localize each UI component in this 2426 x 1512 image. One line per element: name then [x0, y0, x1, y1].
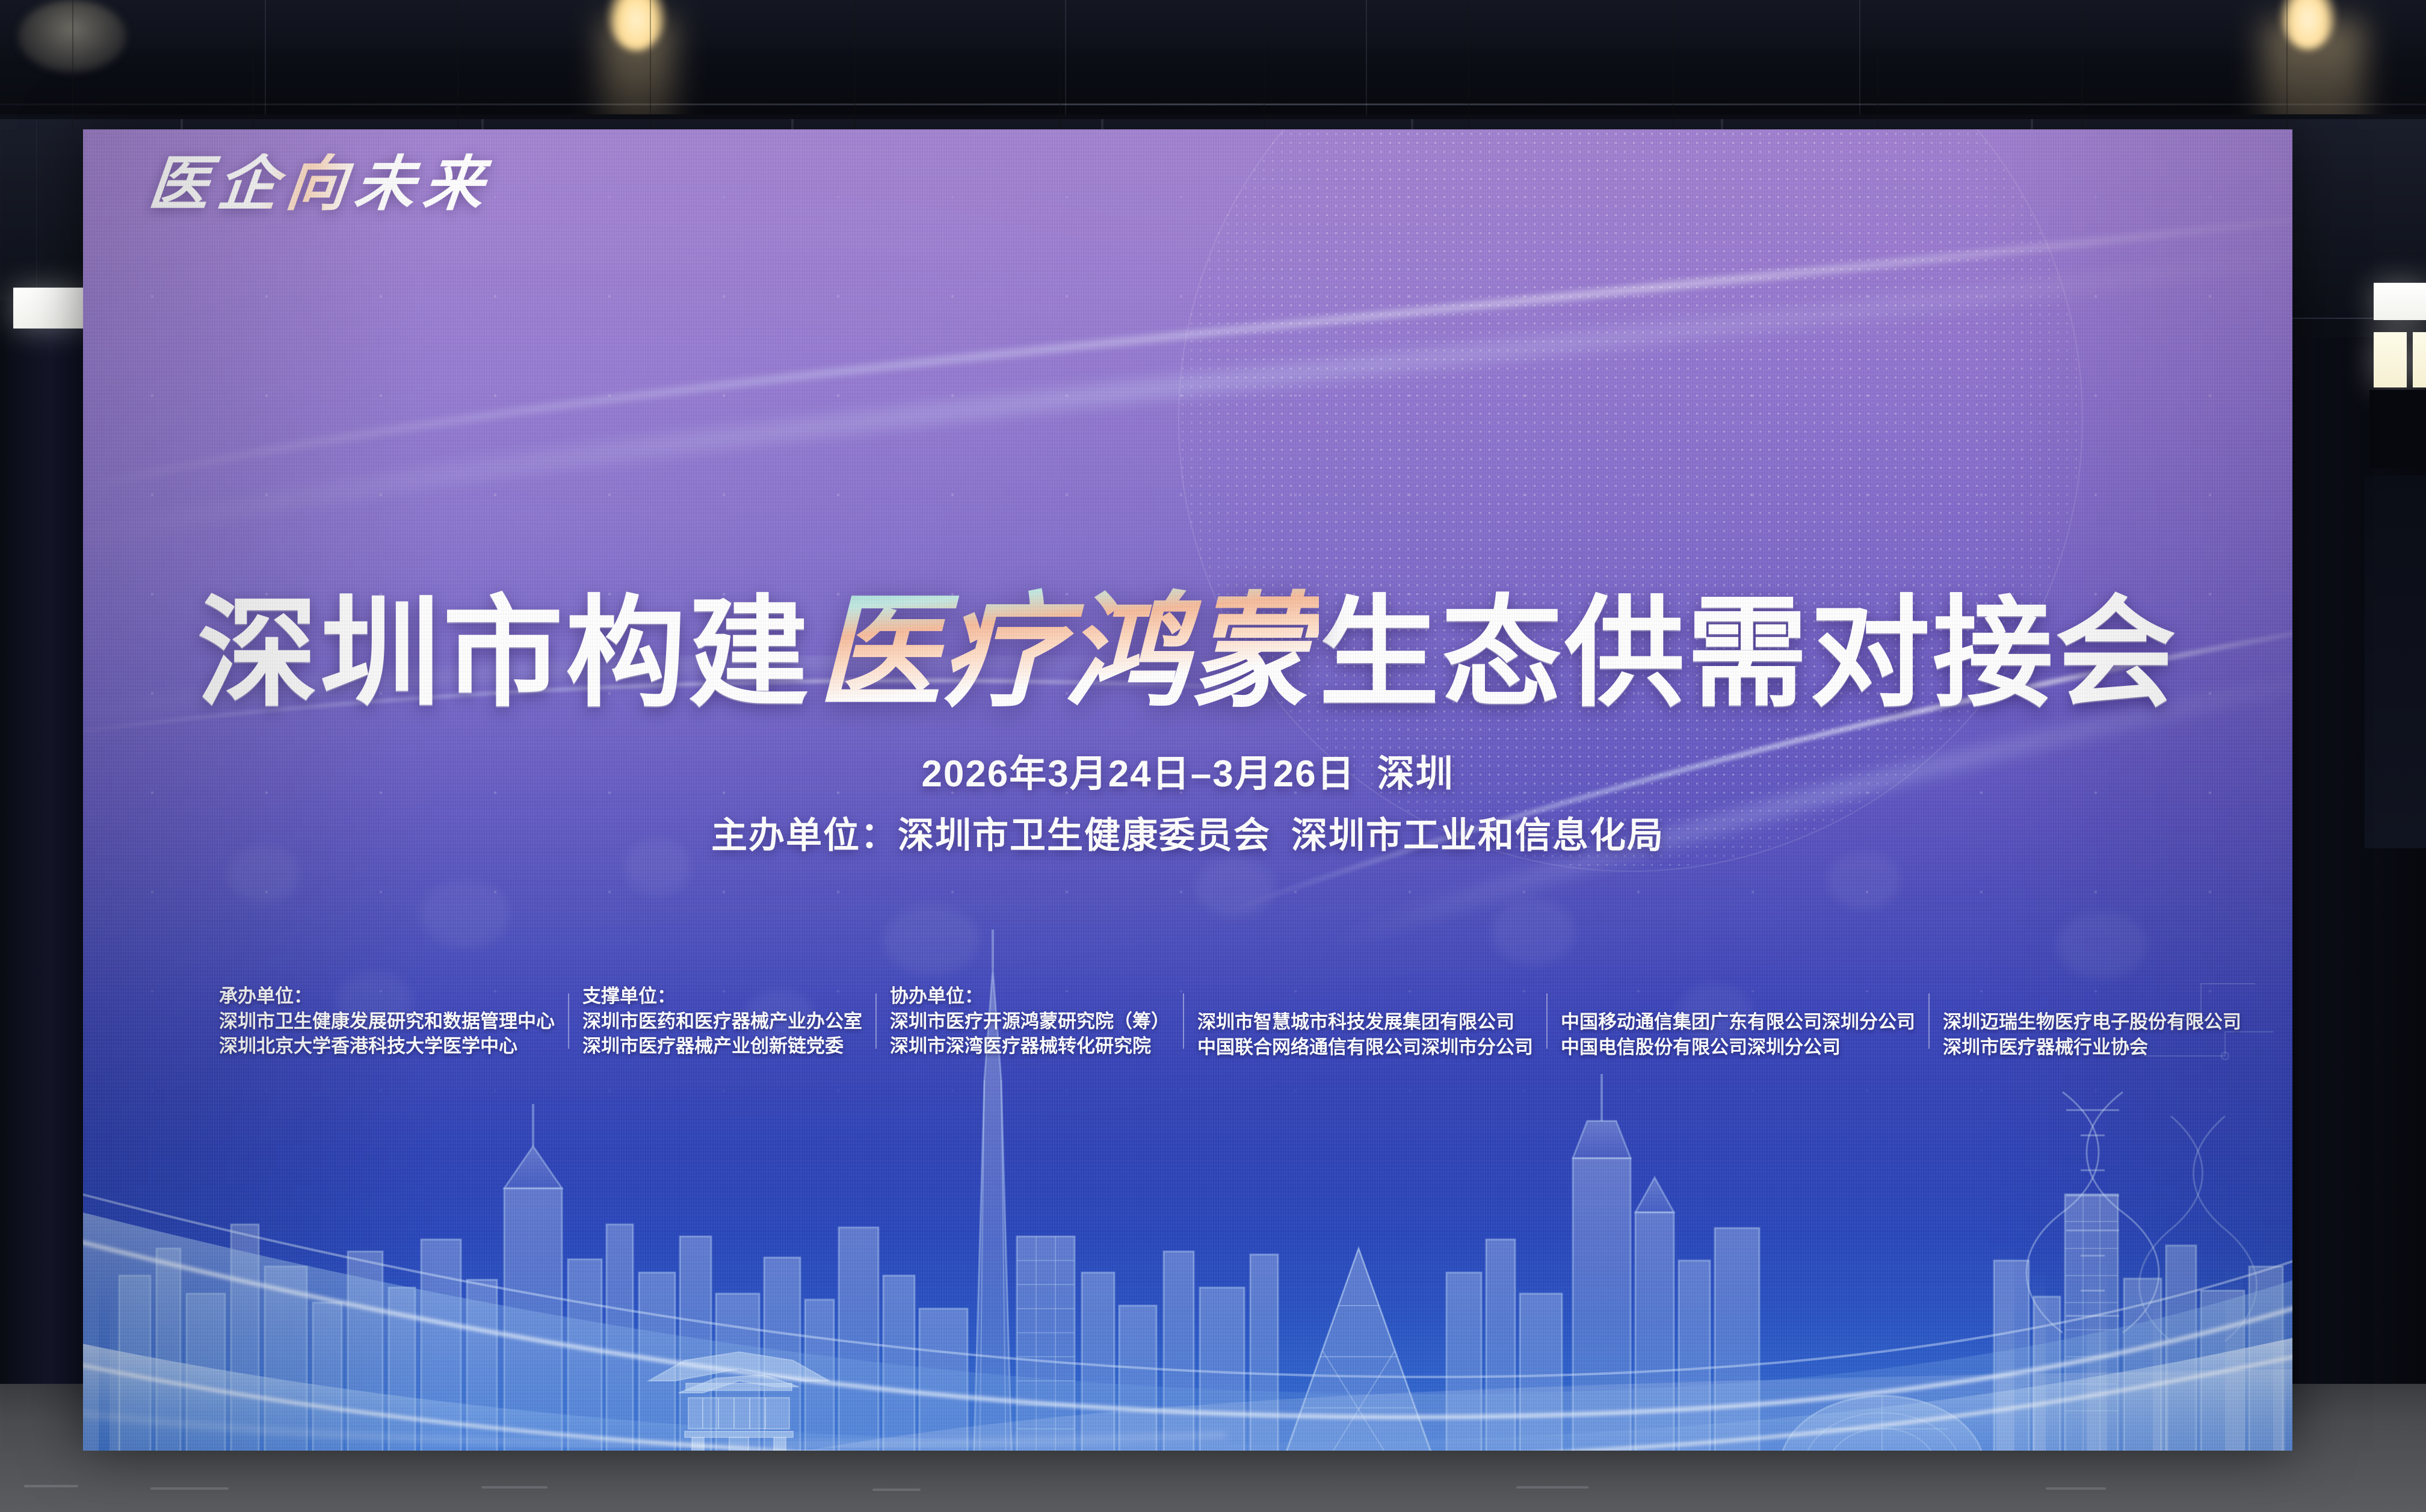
floor-plank-seam: [457, 0, 458, 128]
event-backdrop-banner: 医企向未来 深圳市构建医疗鸿蒙生态供需对接会 2026年3月24日–3月26日深…: [83, 129, 2292, 1451]
floor-plank-seam: [1877, 0, 1878, 128]
credits-divider: [1183, 993, 1184, 1049]
floor-plank-seam: [2286, 0, 2288, 128]
ceiling: [0, 0, 2426, 120]
title-suffix: 生态供需对接会: [1319, 591, 2178, 717]
credits-column: 支撑单位：深圳市医药和医疗器械产业办公室深圳市医疗器械产业创新链党委: [568, 984, 875, 1059]
credits-column: 深圳迈瑞生物医疗电子股份有限公司深圳市医疗器械行业协会: [1928, 984, 2255, 1060]
floor-scuff: [872, 1489, 921, 1491]
credits-row: 承办单位：深圳市卫生健康发展研究和数据管理中心深圳北京大学香港科技大学医学中心支…: [219, 984, 2223, 1060]
host-label: 主办单位：: [711, 815, 898, 856]
credits-heading: 承办单位：: [219, 984, 555, 1009]
credits-column: 承办单位：深圳市卫生健康发展研究和数据管理中心深圳北京大学香港科技大学医学中心: [219, 984, 568, 1059]
wall-panel-lit: [2413, 332, 2426, 387]
credits-column: 协办单位：深圳市医疗开源鸿蒙研究院（筹）深圳市深湾医疗器械转化研究院: [875, 984, 1183, 1059]
credits-heading-spacer: [1561, 984, 1915, 1010]
event-slogan-logo: 医企向未来: [146, 153, 496, 214]
ceiling-rib: [1065, 0, 1066, 120]
credits-org-name: 深圳北京大学香港科技大学医学中心: [219, 1034, 555, 1059]
wall-recess-dark: [2365, 475, 2426, 848]
floor-plank-seam: [854, 0, 856, 128]
host-org-1: 深圳市卫生健康委员会: [898, 815, 1271, 856]
credits-divider: [568, 993, 569, 1049]
credits-org-name: 深圳市医药和医疗器械产业办公室: [582, 1009, 862, 1034]
ceiling-rib: [1366, 0, 1367, 120]
wall-panel-lit: [2374, 332, 2407, 387]
credits-org-name: 深圳市深湾医疗器械转化研究院: [890, 1034, 1170, 1059]
credits-org-name: 深圳市智慧城市科技发展集团有限公司: [1197, 1010, 1533, 1035]
floor-plank-seam: [2082, 0, 2083, 128]
credits-org-name: 深圳市医疗器械产业创新链党委: [582, 1034, 862, 1059]
floor-scuff: [24, 1485, 78, 1487]
credits-org-name: 中国电信股份有限公司深圳分公司: [1561, 1035, 1915, 1060]
credits-column: 中国移动通信集团广东有限公司深圳分公司中国电信股份有限公司深圳分公司: [1546, 984, 1928, 1060]
wall-column-left: [0, 301, 84, 1444]
ceiling-rib: [265, 0, 266, 120]
credits-org-name: 深圳市医疗器械行业协会: [1943, 1035, 2241, 1060]
event-city: 深圳: [1377, 753, 1454, 795]
wall-recess-dark: [2369, 390, 2426, 468]
credits-org-name: 深圳市卫生健康发展研究和数据管理中心: [219, 1009, 555, 1034]
title-prefix: 深圳市构建: [197, 591, 811, 717]
credits-divider: [875, 993, 877, 1049]
credits-divider: [1546, 993, 1548, 1049]
credits-column: 深圳市智慧城市科技发展集团有限公司中国联合网络通信有限公司深圳市分公司: [1183, 984, 1546, 1060]
event-dates: 2026年3月24日–3月26日: [921, 753, 1355, 795]
ceiling-rib: [1859, 0, 1860, 120]
date-location-line: 2026年3月24日–3月26日深圳: [83, 743, 2292, 797]
host-organizations-line: 主办单位：深圳市卫生健康委员会深圳市工业和信息化局: [83, 806, 2292, 859]
floor-plank-seam: [1059, 0, 1060, 128]
credits-heading-spacer: [1197, 984, 1533, 1010]
floor-scuff: [2046, 1487, 2106, 1490]
floor-plank-seam: [1673, 0, 1674, 128]
floor-plank-seam: [650, 0, 651, 128]
floor-plank-seam: [253, 0, 254, 128]
venue-scene: 医企向未来 深圳市构建医疗鸿蒙生态供需对接会 2026年3月24日–3月26日深…: [0, 0, 2426, 1512]
floor-scuff: [1516, 1486, 1588, 1489]
title-highlight: 医疗鸿蒙: [811, 587, 1319, 717]
floor-plank-seam: [1264, 0, 1265, 128]
wall-lightbox-sign: [13, 288, 84, 329]
floor-plank-seam: [1468, 0, 1469, 128]
host-org-2: 深圳市工业和信息化局: [1291, 815, 1664, 856]
credits-org-name: 深圳市医疗开源鸿蒙研究院（筹）: [890, 1009, 1170, 1034]
floor-scuff: [481, 1486, 548, 1489]
ceiling-seam: [0, 103, 2426, 105]
credits-org-name: 中国联合网络通信有限公司深圳市分公司: [1197, 1035, 1533, 1060]
credits-divider: [1928, 993, 1930, 1049]
credits-heading-spacer: [1943, 984, 2241, 1010]
credits-org-name: 深圳迈瑞生物医疗电子股份有限公司: [1943, 1010, 2241, 1035]
wall-lightbox-sign: [2374, 283, 2426, 320]
credits-heading: 协办单位：: [890, 984, 1170, 1009]
credits-org-name: 中国移动通信集团广东有限公司深圳分公司: [1561, 1010, 1915, 1035]
credits-heading: 支撑单位：: [582, 984, 862, 1009]
floor-scuff: [150, 1487, 229, 1490]
main-title: 深圳市构建医疗鸿蒙生态供需对接会: [83, 587, 2292, 717]
floor-plank-seam: [72, 0, 73, 128]
